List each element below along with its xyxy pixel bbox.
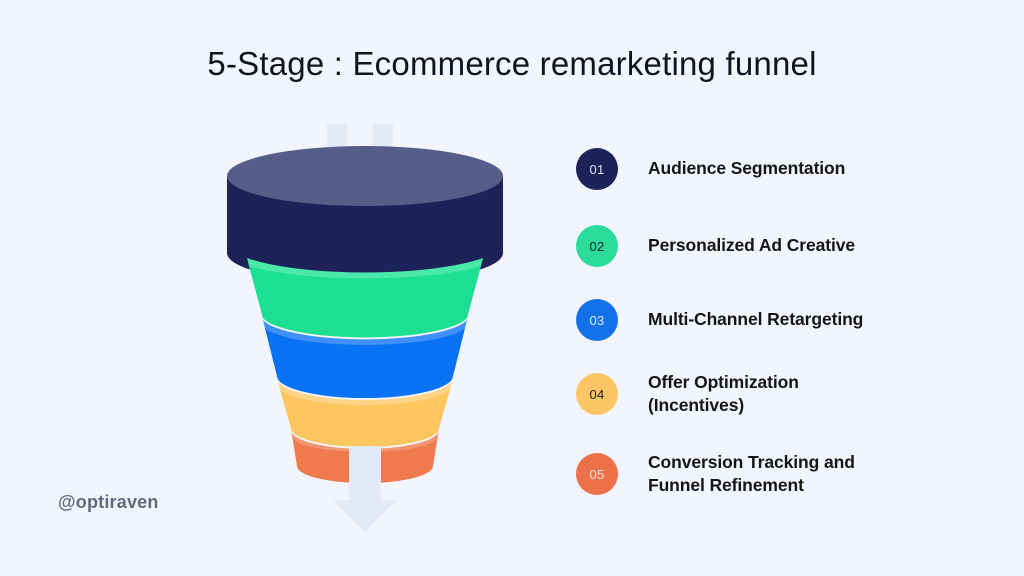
legend-label-01: Audience Segmentation — [648, 157, 845, 180]
legend-label-04-line1: Offer Optimization — [648, 372, 799, 392]
legend-item-04[interactable]: 04 Offer Optimization (Incentives) — [576, 371, 976, 418]
legend-badge-01: 01 — [576, 148, 618, 190]
legend-badge-03: 03 — [576, 299, 618, 341]
legend-label-05-line2: Funnel Refinement — [648, 475, 804, 495]
funnel-svg — [205, 110, 525, 540]
legend-item-02[interactable]: 02 Personalized Ad Creative — [576, 225, 976, 267]
legend-label-05: Conversion Tracking and Funnel Refinemen… — [648, 451, 855, 498]
legend-item-01[interactable]: 01 Audience Segmentation — [576, 148, 976, 190]
legend-label-03-line1: Multi-Channel Retargeting — [648, 309, 863, 329]
legend-label-04-line2: (Incentives) — [648, 395, 744, 415]
legend-label-05-line1: Conversion Tracking and — [648, 452, 855, 472]
legend-item-05[interactable]: 05 Conversion Tracking and Funnel Refine… — [576, 451, 976, 498]
legend-label-02-line1: Personalized Ad Creative — [648, 235, 855, 255]
legend-label-04: Offer Optimization (Incentives) — [648, 371, 799, 418]
funnel-stage-1 — [227, 146, 503, 283]
legend-badge-02: 02 — [576, 225, 618, 267]
legend-label-01-line1: Audience Segmentation — [648, 158, 845, 178]
funnel-diagram — [205, 110, 525, 540]
slide-canvas: 5-Stage : Ecommerce remarketing funnel — [0, 0, 1024, 576]
legend-badge-04: 04 — [576, 373, 618, 415]
legend-item-03[interactable]: 03 Multi-Channel Retargeting — [576, 299, 976, 341]
legend-label-03: Multi-Channel Retargeting — [648, 308, 863, 331]
legend-badge-05: 05 — [576, 453, 618, 495]
page-title: 5-Stage : Ecommerce remarketing funnel — [0, 44, 1024, 84]
watermark-handle: @optiraven — [58, 492, 159, 513]
legend-label-02: Personalized Ad Creative — [648, 234, 855, 257]
